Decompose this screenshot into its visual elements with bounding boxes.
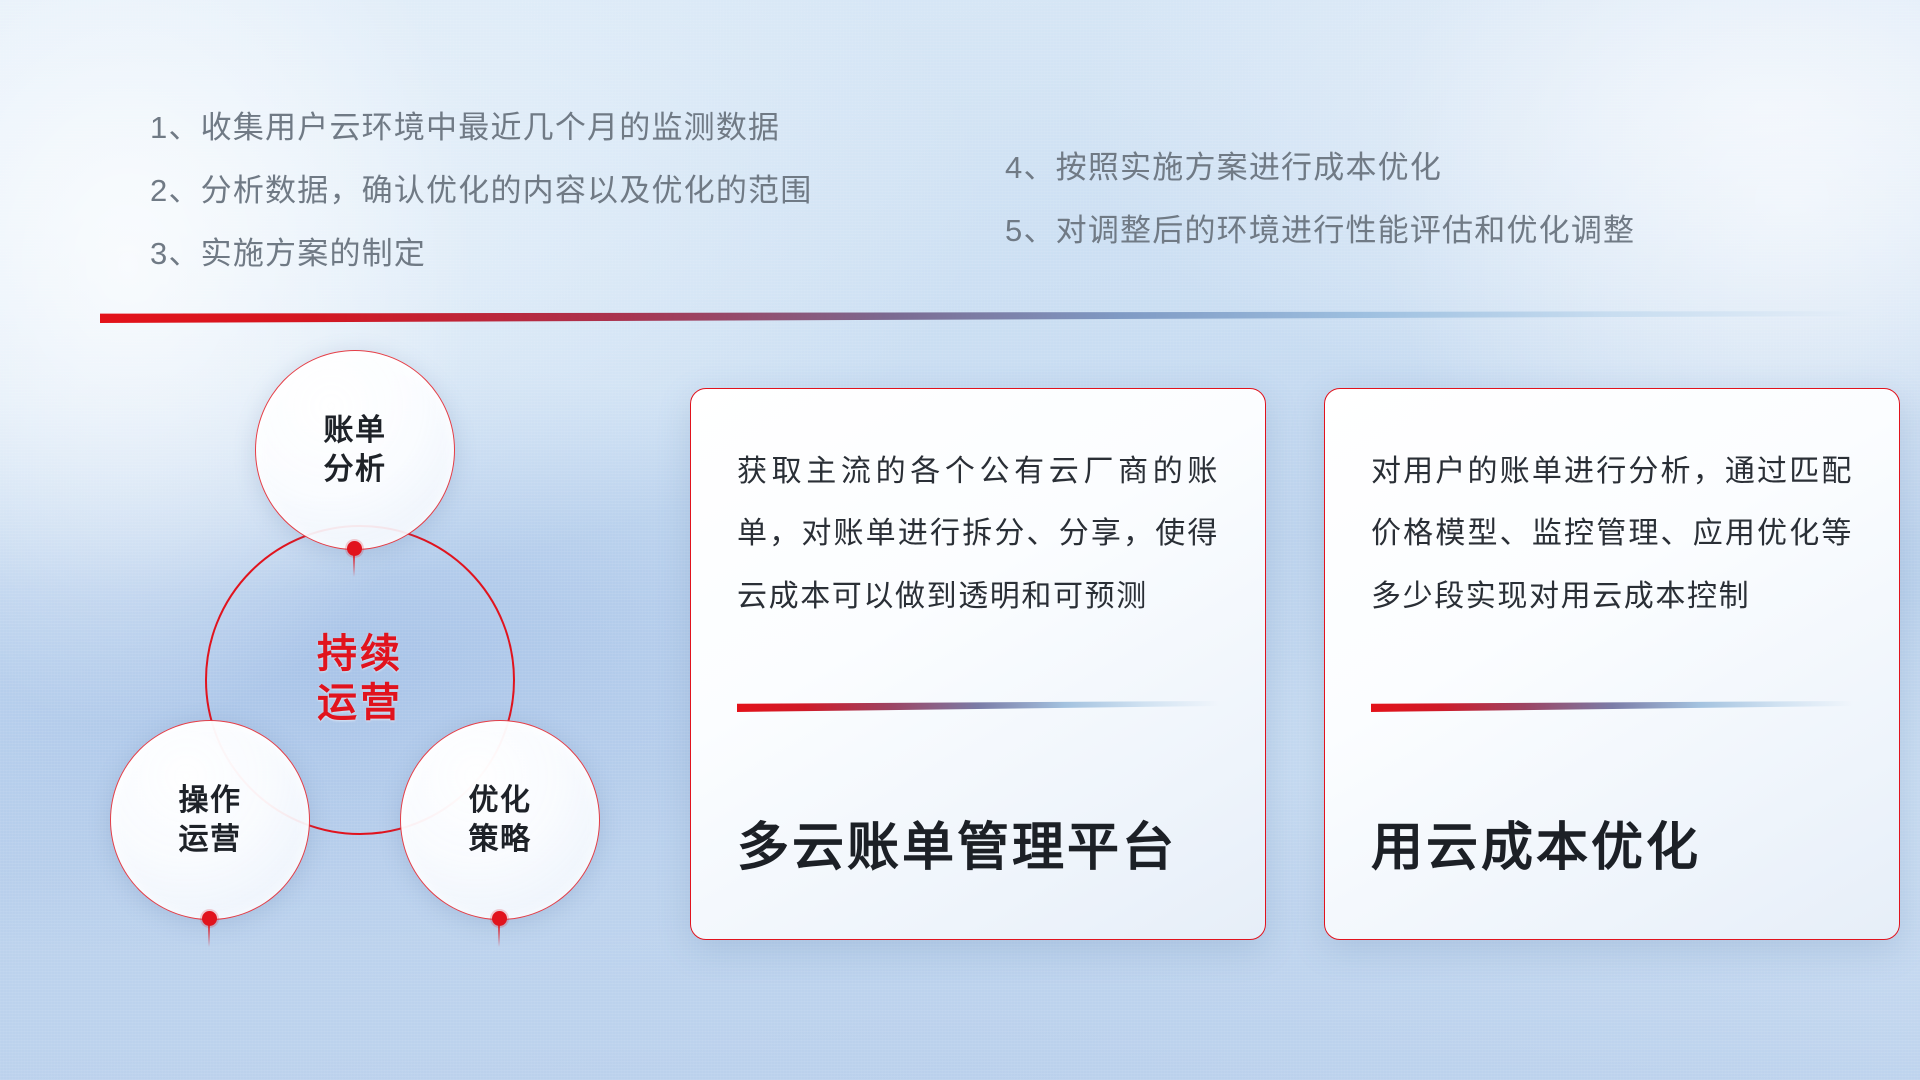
venn-node-tail-left: [208, 925, 210, 947]
step-item-2: 2、分析数据，确认优化的内容以及优化的范围: [150, 175, 812, 206]
venn-bubble-label: 操作 运营: [179, 781, 242, 859]
card-divider: [737, 701, 1219, 712]
card-body-text: 对用户的账单进行分析，通过匹配价格模型、监控管理、应用优化等多少段实现对用云成本…: [1371, 441, 1853, 663]
step-item-5: 5、对调整后的环境进行性能评估和优化调整: [1005, 215, 1635, 246]
venn-node-tail-top: [353, 555, 355, 577]
card-title: 用云成本优化: [1371, 820, 1853, 877]
venn-diagram: 持续 运营 账单 分析 操作 运营 优化 策略: [100, 350, 640, 960]
venn-node-dot-top: [347, 541, 362, 556]
steps-column-right: 4、按照实施方案进行成本优化 5、对调整后的环境进行性能评估和优化调整: [1005, 152, 1635, 278]
venn-bubble-operations[interactable]: 操作 运营: [110, 720, 310, 920]
venn-bubble-billing-analysis[interactable]: 账单 分析: [255, 350, 455, 550]
card-multicloud-billing-platform[interactable]: 获取主流的各个公有云厂商的账单，对账单进行拆分、分享，使得云成本可以做到透明和可…: [690, 388, 1266, 940]
step-item-3: 3、实施方案的制定: [150, 238, 812, 269]
venn-node-dot-left: [202, 911, 217, 926]
venn-center-label: 持续 运营: [205, 630, 515, 728]
card-divider: [1371, 701, 1853, 712]
venn-node-tail-right: [498, 925, 500, 947]
divider-gradient-bar: [100, 311, 1860, 323]
process-steps: 1、收集用户云环境中最近几个月的监测数据 2、分析数据，确认优化的内容以及优化的…: [0, 0, 1920, 300]
step-item-4: 4、按照实施方案进行成本优化: [1005, 152, 1635, 183]
card-title: 多云账单管理平台: [737, 820, 1219, 877]
section-divider: [100, 311, 1860, 323]
venn-node-dot-right: [492, 911, 507, 926]
step-item-1: 1、收集用户云环境中最近几个月的监测数据: [150, 112, 812, 143]
venn-bubble-label: 优化 策略: [469, 781, 532, 859]
card-body-text: 获取主流的各个公有云厂商的账单，对账单进行拆分、分享，使得云成本可以做到透明和可…: [737, 441, 1219, 663]
venn-bubble-label: 账单 分析: [324, 411, 387, 489]
steps-column-left: 1、收集用户云环境中最近几个月的监测数据 2、分析数据，确认优化的内容以及优化的…: [150, 112, 812, 301]
card-cloud-cost-optimization[interactable]: 对用户的账单进行分析，通过匹配价格模型、监控管理、应用优化等多少段实现对用云成本…: [1324, 388, 1900, 940]
venn-bubble-optimization-strategy[interactable]: 优化 策略: [400, 720, 600, 920]
feature-cards: 获取主流的各个公有云厂商的账单，对账单进行拆分、分享，使得云成本可以做到透明和可…: [690, 388, 1900, 948]
